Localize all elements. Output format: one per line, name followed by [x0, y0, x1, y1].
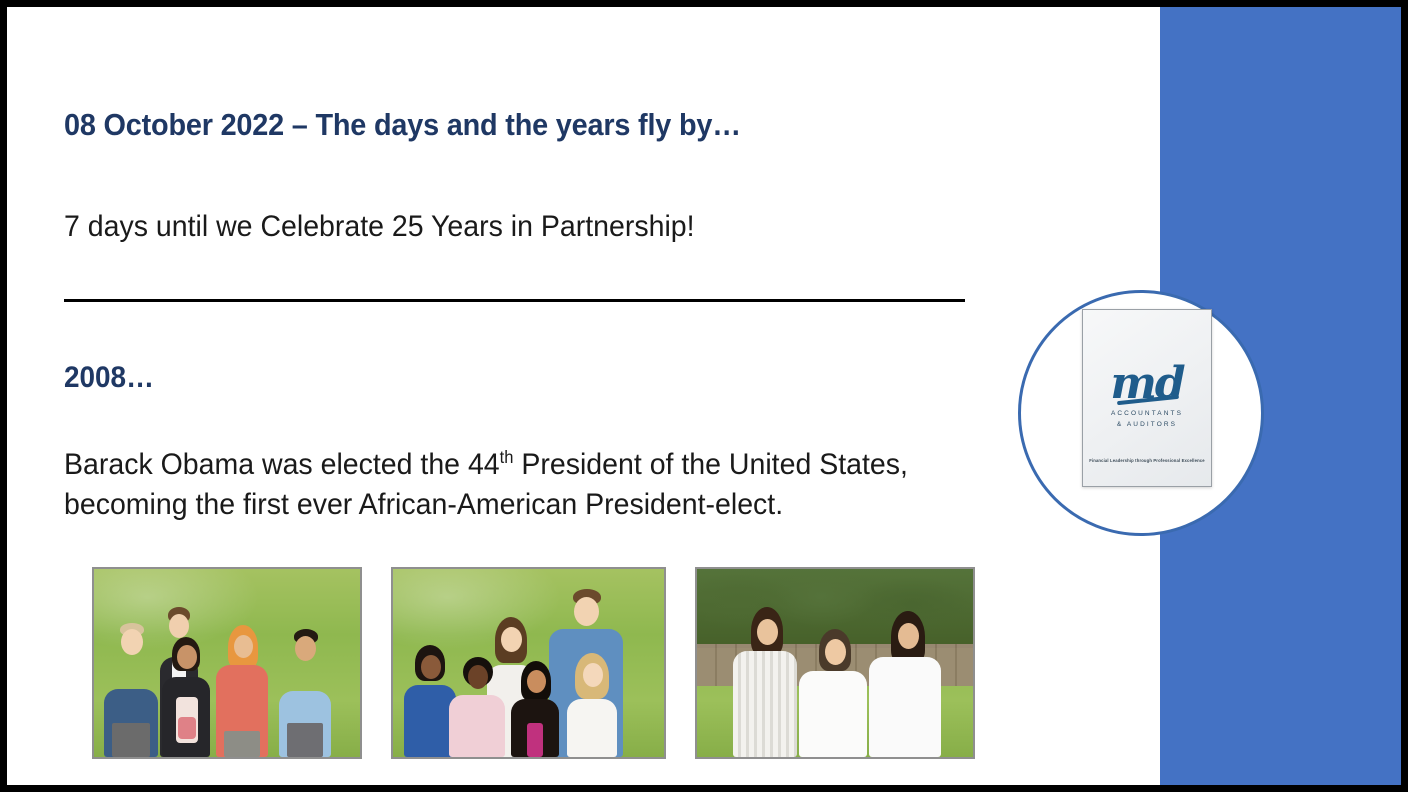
photo-person [729, 607, 803, 757]
head [583, 663, 603, 687]
floral-accent [178, 717, 196, 739]
photo-person [505, 661, 565, 757]
head [121, 629, 143, 655]
head [468, 665, 488, 689]
slide-canvas: 08 October 2022 – The days and the years… [7, 7, 1401, 785]
staff-group-photo-3 [695, 567, 975, 759]
body-text-before: Barack Obama was elected the 44 [64, 448, 500, 481]
photo-person [793, 629, 873, 757]
torso [869, 657, 941, 757]
head [177, 645, 197, 669]
head [169, 614, 189, 638]
legs [287, 723, 323, 757]
torso [733, 651, 797, 757]
md-logo-line1: ACCOUNTANTS [1083, 410, 1211, 417]
photo-gap [666, 567, 695, 762]
head [898, 623, 919, 649]
head [825, 639, 846, 665]
md-logo-line2: & AUDITORS [1083, 421, 1211, 428]
photo-person [561, 653, 623, 757]
torso [449, 695, 505, 757]
staff-group-photo-1 [92, 567, 362, 759]
head [234, 635, 253, 658]
body-paragraph: Barack Obama was elected the 44th Presid… [64, 445, 929, 525]
page-title: 08 October 2022 – The days and the years… [64, 105, 957, 145]
staff-photo-strip [92, 567, 987, 762]
head [501, 627, 522, 652]
torso [799, 671, 867, 757]
md-wordmark: md [1083, 362, 1211, 406]
md-logo-card: md ACCOUNTANTS & AUDITORS Financial Lead… [1082, 309, 1212, 487]
torso [567, 699, 617, 757]
photo-person [100, 615, 162, 757]
photo-person [276, 629, 334, 757]
year-heading: 2008… [64, 359, 154, 397]
ordinal-suffix: th [500, 447, 514, 467]
md-logo-tagline: Financial Leadership through Professiona… [1083, 458, 1211, 463]
slide-frame: 08 October 2022 – The days and the years… [0, 0, 1408, 792]
countdown-subtitle: 7 days until we Celebrate 25 Years in Pa… [64, 207, 976, 247]
head [421, 655, 441, 679]
staff-group-photo-2 [391, 567, 666, 759]
head [757, 619, 778, 645]
head [574, 597, 599, 626]
legs [112, 723, 150, 757]
horizontal-divider [64, 299, 965, 302]
legs [224, 731, 260, 757]
photo-person [445, 657, 509, 757]
photo-person [156, 637, 214, 757]
photo-gap [362, 567, 391, 762]
photo-person [210, 625, 272, 757]
head [295, 636, 316, 661]
photo-person [863, 611, 947, 757]
head [527, 670, 546, 693]
scarf [527, 723, 543, 757]
